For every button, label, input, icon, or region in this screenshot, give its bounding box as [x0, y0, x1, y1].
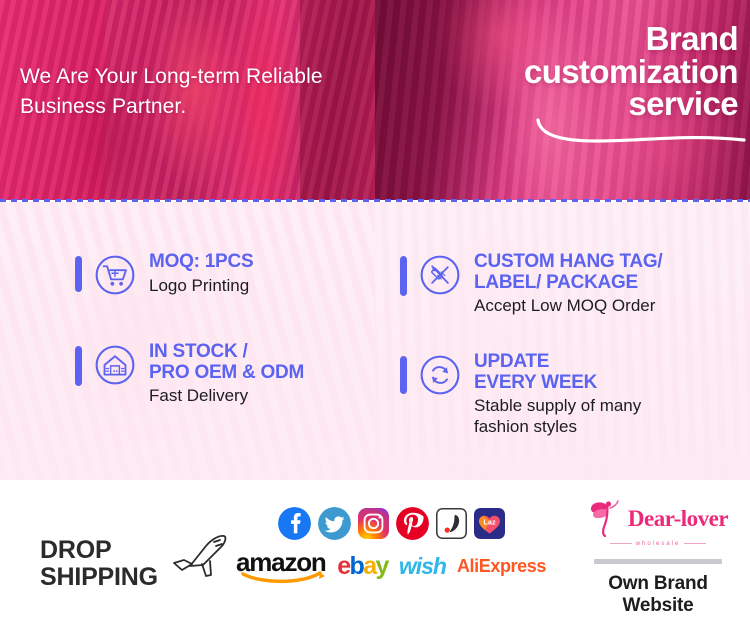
feature-title: MOQ: 1PCS	[149, 252, 253, 273]
marketplace-logos-row: amazon ebay wish AliExpress	[236, 549, 546, 583]
ebay-letter-e: e	[337, 552, 349, 580]
feature-update-weekly[interactable]: UPDATE EVERY WEEK Stable supply of many …	[400, 352, 745, 438]
shopping-cart-icon	[94, 254, 136, 296]
tagline-rule-left	[610, 543, 632, 544]
hero-headline-line-3: service	[398, 88, 738, 121]
aliexpress-logo[interactable]: AliExpress	[457, 557, 546, 575]
amazon-logo[interactable]: amazon	[236, 549, 326, 583]
feature-accent-bar	[400, 256, 407, 296]
hero-left-headline: We Are Your Long-term Reliable Business …	[20, 62, 370, 122]
feature-title: UPDATE EVERY WEEK	[474, 352, 641, 393]
hero-right-panel: Brand customization service	[375, 0, 750, 200]
feature-accent-bar	[75, 256, 82, 292]
amazon-smile-icon	[240, 570, 330, 584]
feature-subtitle: Fast Delivery	[149, 386, 304, 407]
brand-tagline: wholesale	[636, 541, 681, 547]
brand-block: Dear-lover wholesale Own Brand Website	[578, 498, 738, 618]
feature-moq[interactable]: MOQ: 1PCS Logo Printing	[75, 252, 375, 296]
feature-title: IN STOCK / PRO OEM & ODM	[149, 342, 304, 383]
brand-divider-rule	[594, 559, 722, 564]
instagram-icon[interactable]	[358, 508, 389, 539]
brand-name: Dear-lover	[628, 507, 728, 530]
pinterest-icon[interactable]	[396, 507, 429, 540]
hero-banner: We Are Your Long-term Reliable Business …	[0, 0, 750, 200]
hero-headline-line-1: Brand	[398, 23, 738, 56]
feature-text-block: UPDATE EVERY WEEK Stable supply of many …	[474, 352, 641, 438]
underline-swoosh-icon	[536, 118, 746, 144]
drop-shipping-label: DROP SHIPPING	[40, 537, 158, 590]
feature-text-block: MOQ: 1PCS Logo Printing	[149, 252, 253, 296]
feature-title: CUSTOM HANG TAG/ LABEL/ PACKAGE	[474, 252, 662, 293]
features-right-background	[375, 202, 750, 480]
facebook-icon[interactable]	[278, 507, 311, 540]
hero-right-headline: Brand customization service	[398, 23, 738, 121]
feature-accent-bar	[400, 356, 407, 394]
features-left-column: MOQ: 1PCS Logo Printing IN STOCK / PRO O…	[0, 202, 375, 480]
hero-left-panel: We Are Your Long-term Reliable Business …	[0, 0, 375, 200]
feature-subtitle: Accept Low MOQ Order	[474, 296, 662, 317]
feature-in-stock[interactable]: IN STOCK / PRO OEM & ODM Fast Delivery	[75, 342, 375, 407]
footer-section: DROP SHIPPING	[0, 480, 750, 632]
feature-subtitle: Logo Printing	[149, 276, 253, 297]
hang-tag-icon	[419, 254, 461, 296]
twitter-icon[interactable]	[318, 507, 351, 540]
svg-text:Laz: Laz	[483, 517, 496, 526]
brand-tagline-row: wholesale	[578, 539, 738, 547]
ebay-letter-a: a	[363, 552, 375, 580]
social-icons-row: Laz	[236, 507, 546, 540]
tagline-rule-right	[684, 543, 706, 544]
ebay-letter-b: b	[350, 552, 364, 580]
own-brand-website-label: Own Brand Website	[578, 573, 738, 618]
feature-text-block: IN STOCK / PRO OEM & ODM Fast Delivery	[149, 342, 304, 407]
warehouse-icon	[94, 344, 136, 386]
refresh-icon	[419, 354, 461, 396]
airplane-icon	[162, 530, 234, 582]
feature-subtitle: Stable supply of many fashion styles	[474, 396, 641, 437]
lazada-icon[interactable]: Laz	[474, 508, 505, 539]
butterfly-fairy-icon	[588, 498, 628, 538]
feature-accent-bar	[75, 346, 82, 386]
hero-headline-line-2: customization	[398, 56, 738, 89]
features-right-column: CUSTOM HANG TAG/ LABEL/ PACKAGE Accept L…	[375, 202, 750, 480]
platforms-block: Laz amazon ebay wish AliExpress	[236, 507, 546, 583]
feature-custom-hang-tag[interactable]: CUSTOM HANG TAG/ LABEL/ PACKAGE Accept L…	[400, 252, 745, 317]
brand-logo-row[interactable]: Dear-lover	[578, 498, 738, 538]
feature-text-block: CUSTOM HANG TAG/ LABEL/ PACKAGE Accept L…	[474, 252, 662, 317]
wish-logo[interactable]: wish	[399, 555, 446, 578]
features-section: MOQ: 1PCS Logo Printing IN STOCK / PRO O…	[0, 202, 750, 480]
promo-banner-page: We Are Your Long-term Reliable Business …	[0, 0, 750, 632]
ebay-letter-y: y	[376, 552, 388, 580]
ebay-logo[interactable]: ebay	[337, 554, 388, 579]
drop-shipping-block: DROP SHIPPING	[40, 537, 234, 590]
joom-icon[interactable]	[436, 508, 467, 539]
